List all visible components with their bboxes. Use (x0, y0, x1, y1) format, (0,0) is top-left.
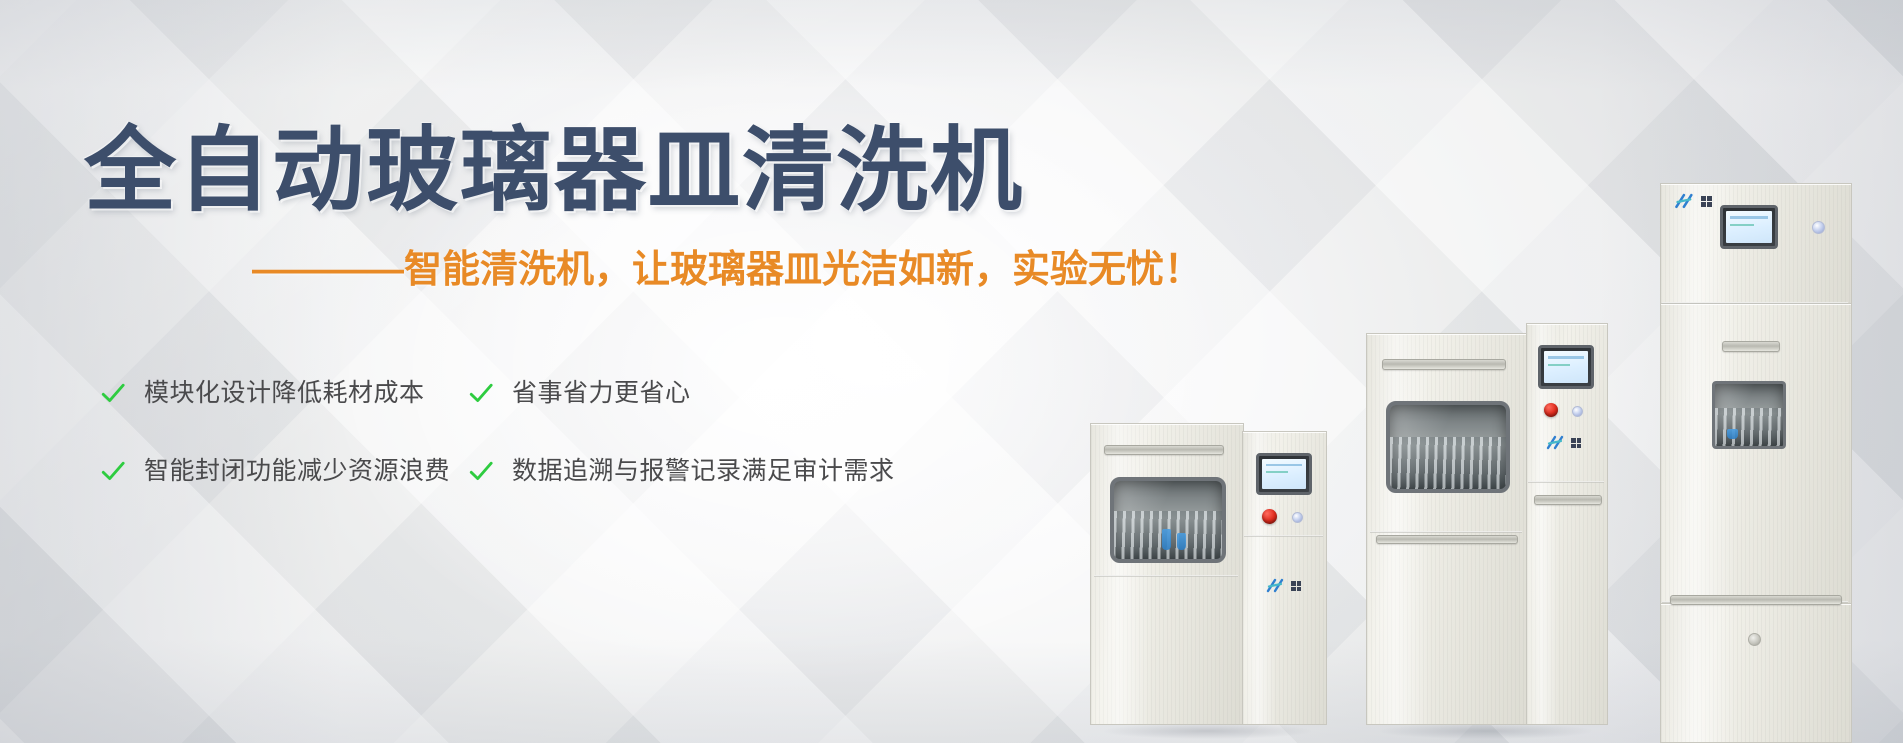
feature-item: 模块化设计降低耗材成本 (100, 380, 468, 406)
banner-subtitle: ————智能清洗机，让玻璃器皿光洁如新，实验无忧！ (252, 238, 1202, 293)
panel-seam (1662, 302, 1848, 304)
banner-content: 全自动玻璃器皿清洗机 ————智能清洗机，让玻璃器皿光洁如新，实验无忧！ 模块化… (0, 0, 1903, 743)
feature-label: 数据追溯与报警记录满足审计需求 (512, 459, 895, 484)
logo-squares-icon (1571, 438, 1581, 448)
product-image-group (1090, 0, 1903, 743)
check-icon (468, 458, 494, 484)
wash-chamber-body (1366, 333, 1528, 725)
caster-wheel (1286, 719, 1308, 743)
screen-content (1544, 351, 1588, 383)
feature-list: 模块化设计降低耗材成本 省事省力更省心 智能封闭功能减少资源浪费 (100, 380, 980, 536)
feature-label: 模块化设计降低耗材成本 (144, 381, 425, 406)
logo-squares-icon (1291, 581, 1301, 591)
logo-h-icon (1266, 578, 1288, 594)
banner-title: 全自动玻璃器皿清洗机 (84, 96, 1024, 229)
blue-glassware (1162, 529, 1172, 549)
brand-logo (1674, 193, 1712, 210)
door-lock-keyhole (1748, 633, 1761, 646)
feature-item: 数据追溯与报警记录满足审计需求 (468, 458, 928, 484)
brand-logo (1546, 435, 1581, 451)
caster-wheel (1202, 719, 1224, 743)
emergency-stop-button[interactable] (1544, 403, 1558, 417)
viewing-window (1110, 477, 1226, 563)
feature-row: 模块化设计降低耗材成本 省事省力更省心 (100, 380, 980, 406)
control-touchscreen (1256, 453, 1312, 495)
control-touchscreen (1720, 205, 1778, 249)
check-icon (468, 380, 494, 406)
panel-seam (1094, 575, 1238, 577)
check-icon (100, 380, 126, 406)
status-indicator-light (1292, 512, 1303, 523)
caster-wheel (1484, 719, 1506, 743)
viewing-window (1386, 401, 1510, 493)
logo-h-icon (1674, 193, 1698, 210)
product-image-small (1090, 423, 1325, 743)
blue-glassware (1727, 429, 1738, 439)
emergency-stop-button[interactable] (1262, 509, 1277, 524)
door-handle (1104, 445, 1224, 455)
control-touchscreen (1538, 345, 1594, 389)
feature-item: 省事省力更省心 (468, 380, 928, 406)
lower-door-handle (1534, 495, 1602, 505)
feature-item: 智能封闭功能减少资源浪费 (100, 458, 468, 484)
logo-squares-icon (1701, 196, 1712, 207)
panel-seam (1528, 481, 1604, 483)
caster-wheel (1112, 719, 1134, 743)
status-indicator-light (1572, 406, 1583, 417)
product-banner: 全自动玻璃器皿清洗机 ————智能清洗机，让玻璃器皿光洁如新，实验无忧！ 模块化… (0, 0, 1903, 743)
glassware-load (1715, 408, 1783, 446)
caster-wheel (1818, 719, 1840, 743)
wash-chamber-body (1090, 423, 1244, 725)
viewing-window (1712, 381, 1786, 449)
door-handle (1722, 341, 1780, 352)
feature-label: 省事省力更省心 (512, 381, 691, 406)
panel-seam (1370, 531, 1522, 533)
status-indicator-light (1812, 221, 1825, 234)
feature-label: 智能封闭功能减少资源浪费 (144, 459, 450, 484)
screen-content (1726, 211, 1772, 243)
screen-content (1262, 459, 1306, 489)
logo-h-icon (1546, 435, 1568, 451)
door-handle (1382, 359, 1506, 370)
caster-wheel (1670, 719, 1692, 743)
product-image-large (1660, 183, 1850, 743)
product-image-medium (1366, 323, 1606, 743)
caster-wheel (1380, 719, 1402, 743)
caster-wheel (1566, 719, 1588, 743)
lower-door-handle (1376, 535, 1518, 544)
lower-door-handle (1670, 595, 1842, 605)
panel-seam (1244, 535, 1323, 537)
brand-logo (1266, 578, 1301, 594)
check-icon (100, 458, 126, 484)
blue-glassware (1177, 533, 1187, 549)
feature-row: 智能封闭功能减少资源浪费 数据追溯与报警记录满足审计需求 (100, 458, 980, 484)
glassware-load (1390, 437, 1506, 489)
